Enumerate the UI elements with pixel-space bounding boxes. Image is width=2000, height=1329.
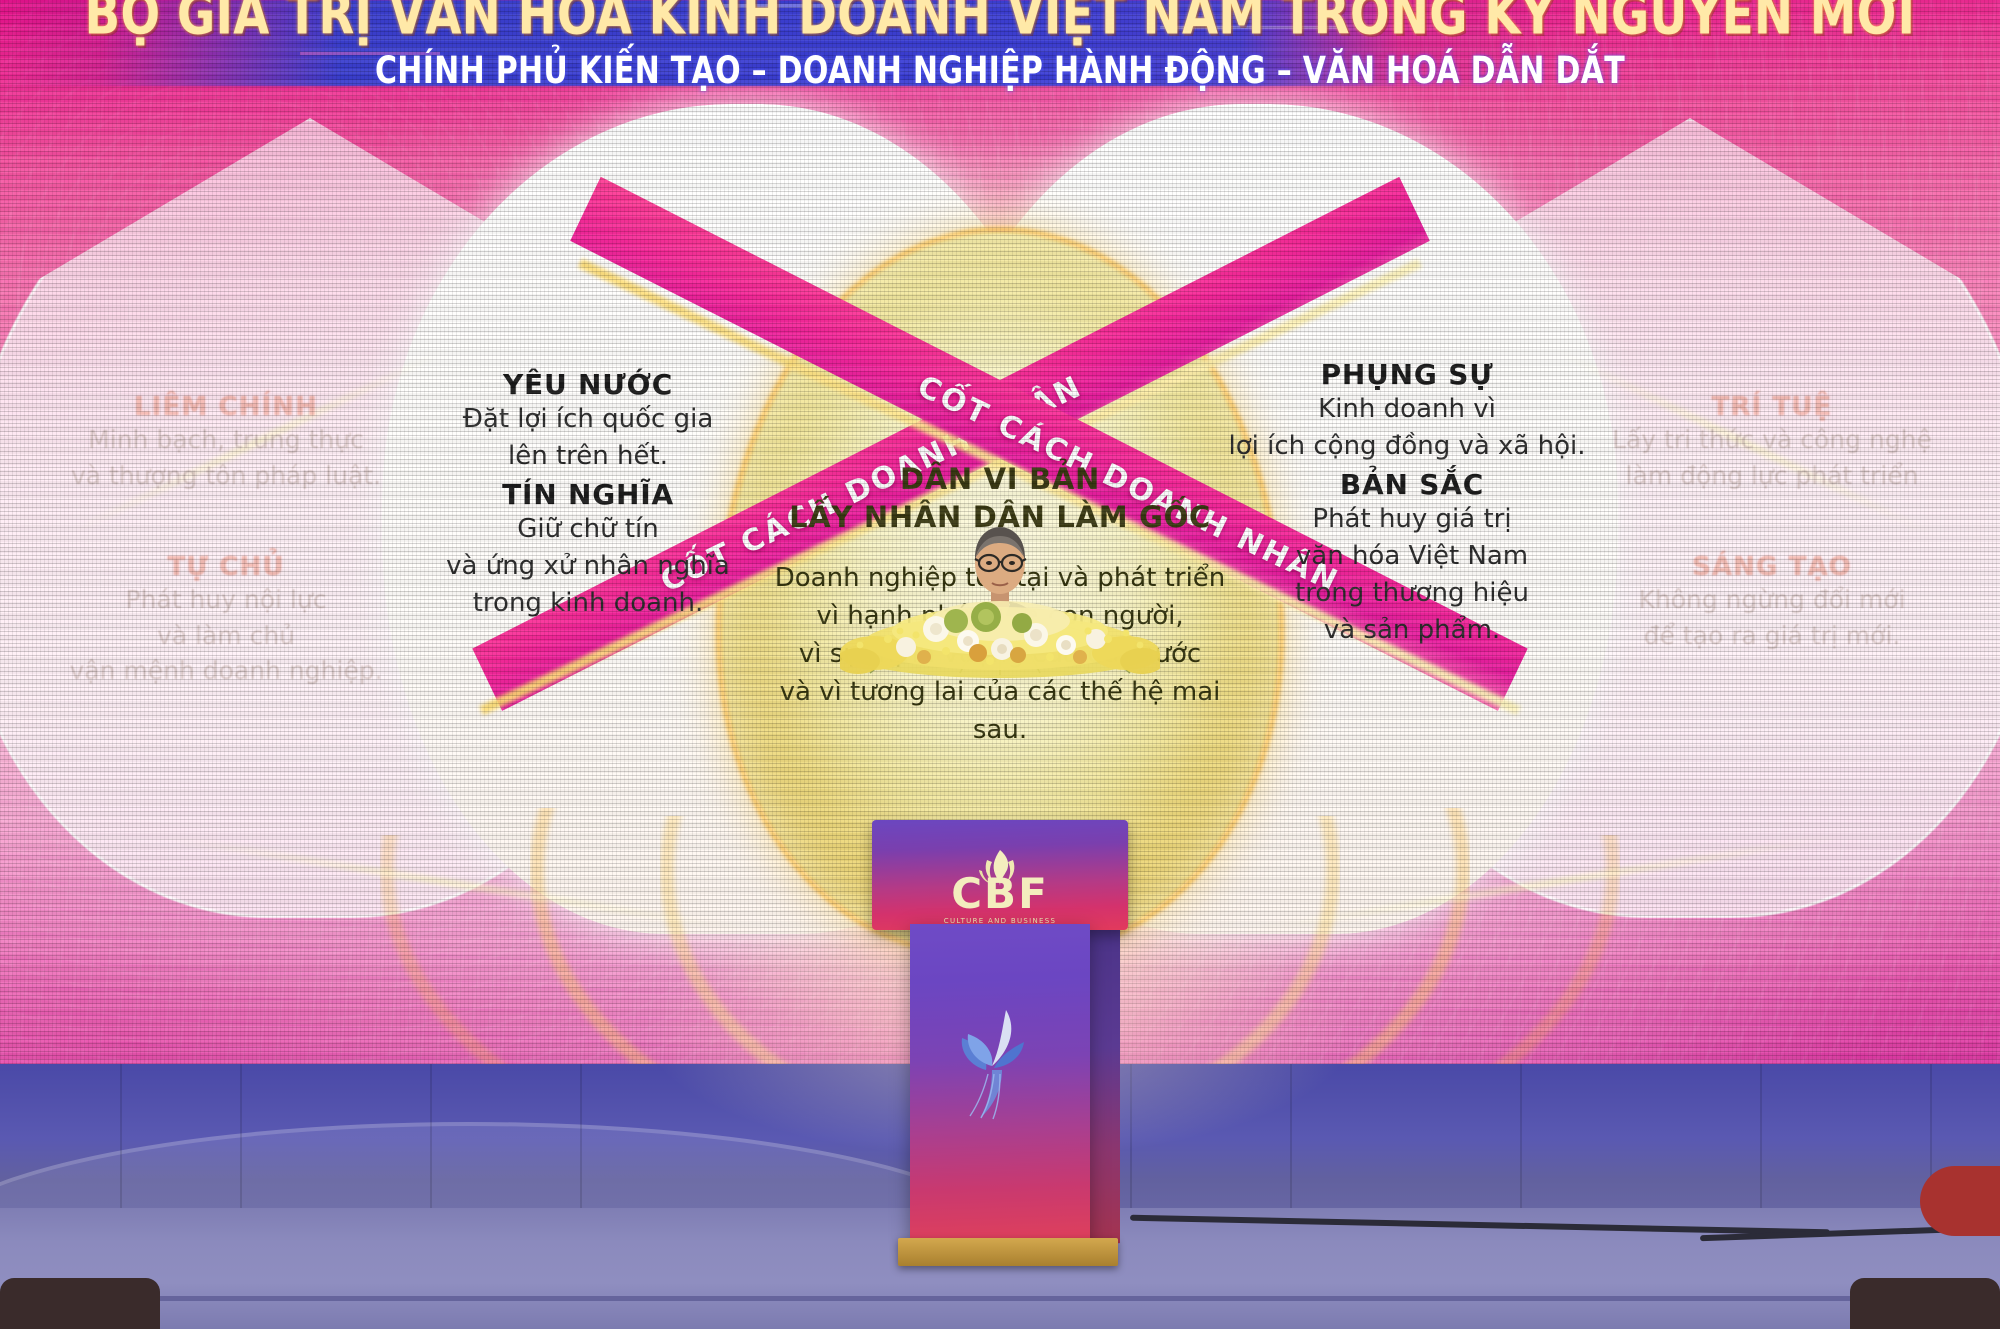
podium-top-panel: CBF CULTURE AND BUSINESS FORUM <box>872 820 1128 930</box>
skirt-fold <box>1290 1064 1292 1226</box>
value-title: TRÍ TUỆ <box>1572 392 1972 422</box>
value-desc-line: trong thương hiệu <box>1222 575 1602 612</box>
value-desc-line: Giữ chữ tín <box>408 511 768 548</box>
center-title-line: DÂN VI BẢN <box>755 460 1245 498</box>
value-desc-line: văn hóa Việt Nam <box>1222 538 1602 575</box>
value-block-ban-sac: BẢN SẮC Phát huy giá trị văn hóa Việt Na… <box>1222 468 1602 649</box>
podium-front-panel <box>910 924 1090 1244</box>
value-title: TỰ CHỦ <box>36 552 416 582</box>
value-desc-line: làm động lực phát triển <box>1572 458 1972 494</box>
value-block-tin-nghia: TÍN NGHĨA Giữ chữ tín và ứng xử nhân ngh… <box>408 478 768 622</box>
value-desc-line: lợi ích cộng đồng và xã hội. <box>1212 428 1602 465</box>
foreground-chair <box>0 1278 160 1329</box>
value-desc-line: và ứng xử nhân nghĩa <box>408 548 768 585</box>
value-desc-line: trong kinh doanh. <box>408 585 768 622</box>
value-title: YÊU NƯỚC <box>408 368 768 401</box>
value-desc-line: và thượng tôn pháp luật. <box>36 458 416 494</box>
skirt-fold <box>430 1064 432 1226</box>
value-desc-line: Kinh doanh vì <box>1212 391 1602 428</box>
value-desc-line: và sản phẩm. <box>1222 612 1602 649</box>
skirt-fold <box>580 1064 582 1226</box>
value-block-tu-chu: TỰ CHỦ Phát huy nội lực và làm chủ vận m… <box>36 552 416 689</box>
value-block-liem-chinh: LIÊM CHÍNH Minh bạch, trung thực và thượ… <box>36 392 416 493</box>
value-title: BẢN SẮC <box>1222 468 1602 501</box>
podium-side-panel <box>1086 917 1120 1245</box>
floor-cable <box>1130 1215 1830 1236</box>
foreground-red-seat <box>1920 1166 2000 1236</box>
flower-arrangement <box>840 565 1160 675</box>
cbf-logo-text: CBF <box>934 874 1066 914</box>
skirt-fold <box>1760 1064 1762 1226</box>
foreground-chair <box>1850 1278 2000 1329</box>
value-desc-line: để tạo ra giá trị mới. <box>1572 618 1972 654</box>
value-title: TÍN NGHĨA <box>408 478 768 511</box>
page-subtitle: CHÍNH PHỦ KIẾN TẠO – DOANH NGHIỆP HÀNH Đ… <box>0 53 2000 91</box>
skirt-fold <box>1130 1064 1132 1226</box>
headline-group: BỘ GIÁ TRỊ VĂN HOÁ KINH DOANH VIỆT NAM T… <box>0 0 2000 83</box>
skirt-fold <box>1520 1064 1522 1226</box>
center-desc-line: và vì tương lai của các thế hệ mai sau. <box>755 673 1245 749</box>
value-desc-line: vận mệnh doanh nghiệp. <box>36 653 416 689</box>
podium: CBF CULTURE AND BUSINESS FORUM <box>910 820 1090 1260</box>
value-title: PHỤNG SỰ <box>1212 358 1602 391</box>
value-block-sang-tao: SÁNG TẠO Không ngừng đổi mới để tạo ra g… <box>1572 552 1972 653</box>
value-block-tri-tue: TRÍ TUỆ Lấy tri thức và công nghệ làm độ… <box>1572 392 1972 493</box>
value-block-yeu-nuoc: YÊU NƯỚC Đặt lợi ích quốc gia lên trên h… <box>408 368 768 475</box>
value-desc-line: Minh bạch, trung thực <box>36 422 416 458</box>
value-desc-line: Không ngừng đổi mới <box>1572 582 1972 618</box>
podium-base-plinth <box>898 1238 1118 1266</box>
page-title: BỘ GIÁ TRỊ VĂN HOÁ KINH DOANH VIỆT NAM T… <box>10 0 1990 43</box>
value-desc-line: Phát huy nội lực <box>36 582 416 618</box>
skirt-fold <box>120 1064 122 1226</box>
value-desc-line: lên trên hết. <box>408 438 768 475</box>
value-block-phung-su: PHỤNG SỰ Kinh doanh vì lợi ích cộng đồng… <box>1212 358 1602 465</box>
skirt-fold <box>240 1064 242 1226</box>
cbf-logo: CBF CULTURE AND BUSINESS FORUM <box>934 848 1066 933</box>
stage-floor-edge <box>0 1296 2000 1301</box>
presentation-stage-photo: CỐT CÁCH DOANH NHÂN CỐT CÁCH DOANH NHÂN … <box>0 0 2000 1329</box>
value-desc-line: Phát huy giá trị <box>1222 501 1602 538</box>
value-title: LIÊM CHÍNH <box>36 392 416 422</box>
bird-emblem-icon <box>948 1004 1052 1124</box>
value-desc-line: Lấy tri thức và công nghệ <box>1572 422 1972 458</box>
value-desc-line: Đặt lợi ích quốc gia <box>408 401 768 438</box>
value-desc-line: và làm chủ <box>36 618 416 654</box>
value-title: SÁNG TẠO <box>1572 552 1972 582</box>
